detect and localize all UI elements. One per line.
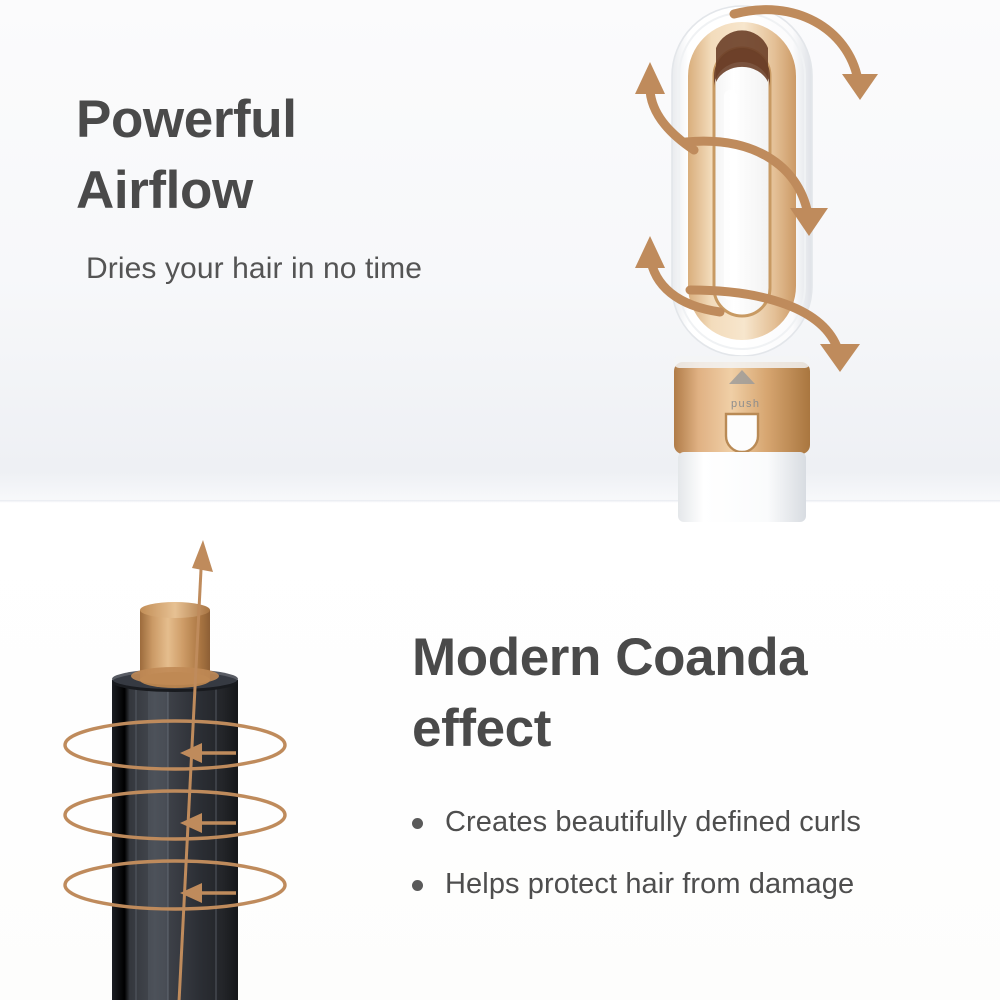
- subheading-airflow: Dries your hair in no time: [86, 252, 616, 286]
- page-title-coanda: Modern Coanda effect: [412, 622, 972, 764]
- coanda-headline-line-2: effect: [412, 693, 972, 764]
- dryer-handle: [678, 452, 806, 522]
- bullet-dot-icon: [412, 880, 423, 891]
- bullet-dot-icon: [412, 818, 423, 829]
- bullet-label: Helps protect hair from damage: [445, 866, 854, 902]
- push-control-label[interactable]: push: [731, 398, 760, 410]
- bullet-label: Creates beautifully defined curls: [445, 804, 861, 840]
- coanda-headline-line-1: Modern Coanda: [412, 622, 972, 693]
- coanda-benefit-list: Creates beautifully defined curls Helps …: [412, 804, 972, 903]
- list-item: Helps protect hair from damage: [412, 866, 972, 902]
- curling-barrel-illustration: [40, 532, 380, 1000]
- headline-line-1: Powerful: [76, 84, 616, 155]
- list-item: Creates beautifully defined curls: [412, 804, 972, 840]
- hair-dryer-illustration: [612, 0, 912, 520]
- dryer-push-button: [726, 414, 758, 452]
- page-title-airflow: Powerful Airflow: [76, 84, 616, 226]
- feature-panel-stage: Powerful Airflow Dries your hair in no t…: [0, 0, 1000, 1000]
- dryer-inner-opening: [714, 48, 770, 316]
- powerful-airflow-copy: Powerful Airflow Dries your hair in no t…: [76, 84, 616, 286]
- arrow-up-head: [192, 540, 213, 572]
- coanda-copy: Modern Coanda effect Creates beautifully…: [412, 622, 972, 929]
- headline-line-2: Airflow: [76, 155, 616, 226]
